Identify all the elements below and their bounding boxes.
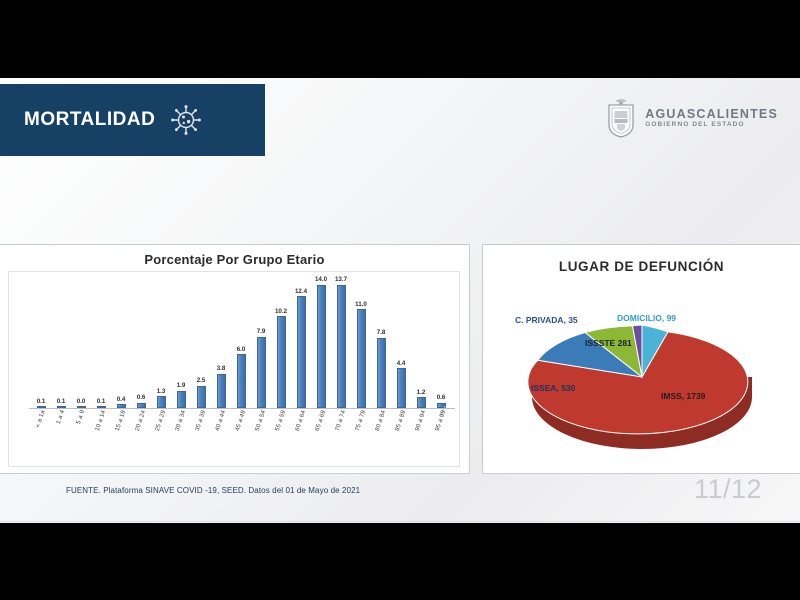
bar: [377, 338, 386, 408]
tick-label: 1 a 4: [56, 409, 66, 425]
tick-label: 70 a 74: [335, 410, 347, 432]
bar-value-label: 1.3: [157, 388, 166, 395]
bar-column: 0.4: [111, 276, 131, 408]
tick-label: 60 a 64: [295, 410, 307, 432]
bar-value-label: 0.1: [57, 398, 66, 405]
bar-column: 1.3: [151, 276, 171, 408]
bar-column: 7.8: [371, 276, 391, 408]
bar-value-label: 12.4: [295, 288, 307, 295]
tick: < a 1a: [31, 410, 51, 464]
bar: [297, 296, 306, 408]
pie-chart-title: LUGAR DE DEFUNCIÓN: [483, 259, 800, 274]
slide-footer: FUENTE. Plataforma SINAVE COVID -19, SEE…: [0, 482, 800, 522]
tick-label: 75 a 79: [355, 410, 367, 432]
tick: 30 a 34: [171, 410, 191, 464]
tick: 5 a 9: [71, 410, 91, 464]
tick: 60 a 64: [291, 410, 311, 464]
bar-column: 0.1: [91, 276, 111, 408]
tick: 70 a 74: [331, 410, 351, 464]
bar-value-label: 3.8: [217, 365, 226, 372]
tick: 45 a 49: [231, 410, 251, 464]
pie-plot-area: IMSS, 1739 ISSEA, 530 ISSSTE 281 C. PRIV…: [483, 287, 800, 473]
tick-label: 50 a 54: [255, 410, 267, 432]
bar: [257, 337, 266, 408]
footer-divider: [0, 521, 800, 522]
tick: 65 a 69: [311, 410, 331, 464]
tick: 35 a 39: [191, 410, 211, 464]
pie-label-issste: ISSSTE 281: [585, 339, 632, 349]
logo-subtitle: GOBIERNO DEL ESTADO: [645, 122, 778, 129]
bar-column: 0.1: [31, 276, 51, 408]
bar-chart-title: Porcentaje Por Grupo Etario: [0, 252, 469, 267]
tick-label: 55 a 59: [275, 410, 287, 432]
bar-series: 0.10.10.00.10.40.61.31.92.53.86.07.910.2…: [31, 276, 451, 408]
coronavirus-icon: [169, 103, 203, 137]
tick: 55 a 59: [271, 410, 291, 464]
bar-value-label: 1.2: [417, 389, 426, 396]
bar: [217, 374, 226, 408]
tick-label: 20 a 24: [135, 410, 147, 432]
bar-column: 6.0: [231, 276, 251, 408]
tick-label: 35 a 39: [195, 410, 207, 432]
tick-label: 40 a 44: [215, 410, 227, 432]
pie-label-imss: IMSS, 1739: [661, 391, 705, 401]
bar-chart-panel: Porcentaje Por Grupo Etario 0.10.10.00.1…: [0, 244, 470, 474]
bar: [177, 391, 186, 408]
page-number: 11/12: [694, 474, 762, 505]
tick: 95 a 99: [431, 410, 451, 464]
bar-column: 7.9: [251, 276, 271, 408]
tick-label: 15 a 19: [115, 410, 127, 432]
tick: 20 a 24: [131, 410, 151, 464]
tick: 50 a 54: [251, 410, 271, 464]
bar-column: 11.0: [351, 276, 371, 408]
pie-label-c-privada: C. PRIVADA, 35: [515, 315, 578, 325]
tick-label: 45 a 49: [235, 410, 247, 432]
pie-label-issea: ISSEA, 530: [531, 383, 575, 393]
government-logo: AGUASCALIENTES GOBIERNO DEL ESTADO: [605, 98, 778, 138]
government-logo-text: AGUASCALIENTES GOBIERNO DEL ESTADO: [645, 108, 778, 129]
tick-label: 95 a 99: [435, 410, 447, 432]
bar-value-label: 7.8: [377, 329, 386, 336]
bar-column: 12.4: [291, 276, 311, 408]
bar-value-label: 1.9: [177, 382, 186, 389]
bar-value-label: 11.0: [355, 301, 367, 308]
bar-value-label: 6.0: [237, 346, 246, 353]
tick: 40 a 44: [211, 410, 231, 464]
bar-column: 0.0: [71, 276, 91, 408]
tick: 1 a 4: [51, 410, 71, 464]
bar: [237, 354, 246, 408]
bar-value-label: 0.0: [77, 398, 86, 405]
header-band: MORTALIDAD: [0, 84, 265, 156]
tick-label: 10 a 14: [95, 410, 107, 432]
bar-plot-area: 0.10.10.00.10.40.61.31.92.53.86.07.910.2…: [8, 271, 460, 467]
tick-label: 90 a 94: [415, 410, 427, 432]
letterbox-top: [0, 0, 800, 78]
tick-label: 5 a 9: [76, 409, 86, 425]
tick-label: 65 a 69: [315, 410, 327, 432]
slide-canvas: MORTALIDAD: [0, 78, 800, 523]
tick: 80 a 84: [371, 410, 391, 464]
tick-label: 30 a 34: [175, 410, 187, 432]
bar: [357, 309, 366, 408]
page-title: MORTALIDAD: [24, 109, 155, 131]
bar-value-label: 2.5: [197, 377, 206, 384]
source-note: FUENTE. Plataforma SINAVE COVID -19, SEE…: [66, 486, 360, 495]
bar-column: 0.6: [131, 276, 151, 408]
bar-value-label: 14.0: [315, 276, 327, 283]
bar: [157, 396, 166, 408]
bar-column: 0.6: [431, 276, 451, 408]
bar-value-label: 0.1: [97, 398, 106, 405]
bar-value-label: 10.2: [275, 308, 287, 315]
tick-label: < a 1a: [35, 410, 46, 429]
tick: 75 a 79: [351, 410, 371, 464]
bar-value-label: 13.7: [335, 276, 347, 283]
bar-column: 2.5: [191, 276, 211, 408]
bar-column: 1.9: [171, 276, 191, 408]
bar-column: 14.0: [311, 276, 331, 408]
bar: [417, 397, 426, 408]
bar-column: 1.2: [411, 276, 431, 408]
bar-value-label: 0.1: [37, 398, 46, 405]
tick: 10 a 14: [91, 410, 111, 464]
bar: [197, 386, 206, 409]
bar-value-label: 0.4: [117, 396, 126, 403]
bar-column: 3.8: [211, 276, 231, 408]
tick: 15 a 19: [111, 410, 131, 464]
bar-column: 4.4: [391, 276, 411, 408]
letterbox-bottom: [0, 523, 800, 600]
bar-column: 10.2: [271, 276, 291, 408]
logo-name: AGUASCALIENTES: [645, 108, 778, 121]
pie-label-domicilio: DOMICILIO, 99: [617, 313, 676, 323]
tick-label: 85 a 89: [395, 410, 407, 432]
bar-column: 0.1: [51, 276, 71, 408]
bar: [337, 285, 346, 408]
tick-label: 25 a 29: [155, 410, 167, 432]
tick: 85 a 89: [391, 410, 411, 464]
bar-value-label: 0.6: [137, 394, 146, 401]
bar: [317, 285, 326, 409]
bar-value-label: 7.9: [257, 328, 266, 335]
bar: [277, 316, 286, 408]
tick: 90 a 94: [411, 410, 431, 464]
bar-value-label: 0.6: [437, 394, 446, 401]
pie-chart-panel: LUGAR DE DEFUNCIÓN: [482, 244, 800, 474]
tick-label: 80 a 84: [375, 410, 387, 432]
bar: [397, 368, 406, 408]
tick: 25 a 29: [151, 410, 171, 464]
coat-of-arms-icon: [605, 98, 637, 138]
bar-column: 13.7: [331, 276, 351, 408]
bar-value-label: 4.4: [397, 360, 406, 367]
category-tick-labels: < a 1a1 a 45 a 910 a 1415 a 1920 a 2425 …: [31, 410, 451, 464]
